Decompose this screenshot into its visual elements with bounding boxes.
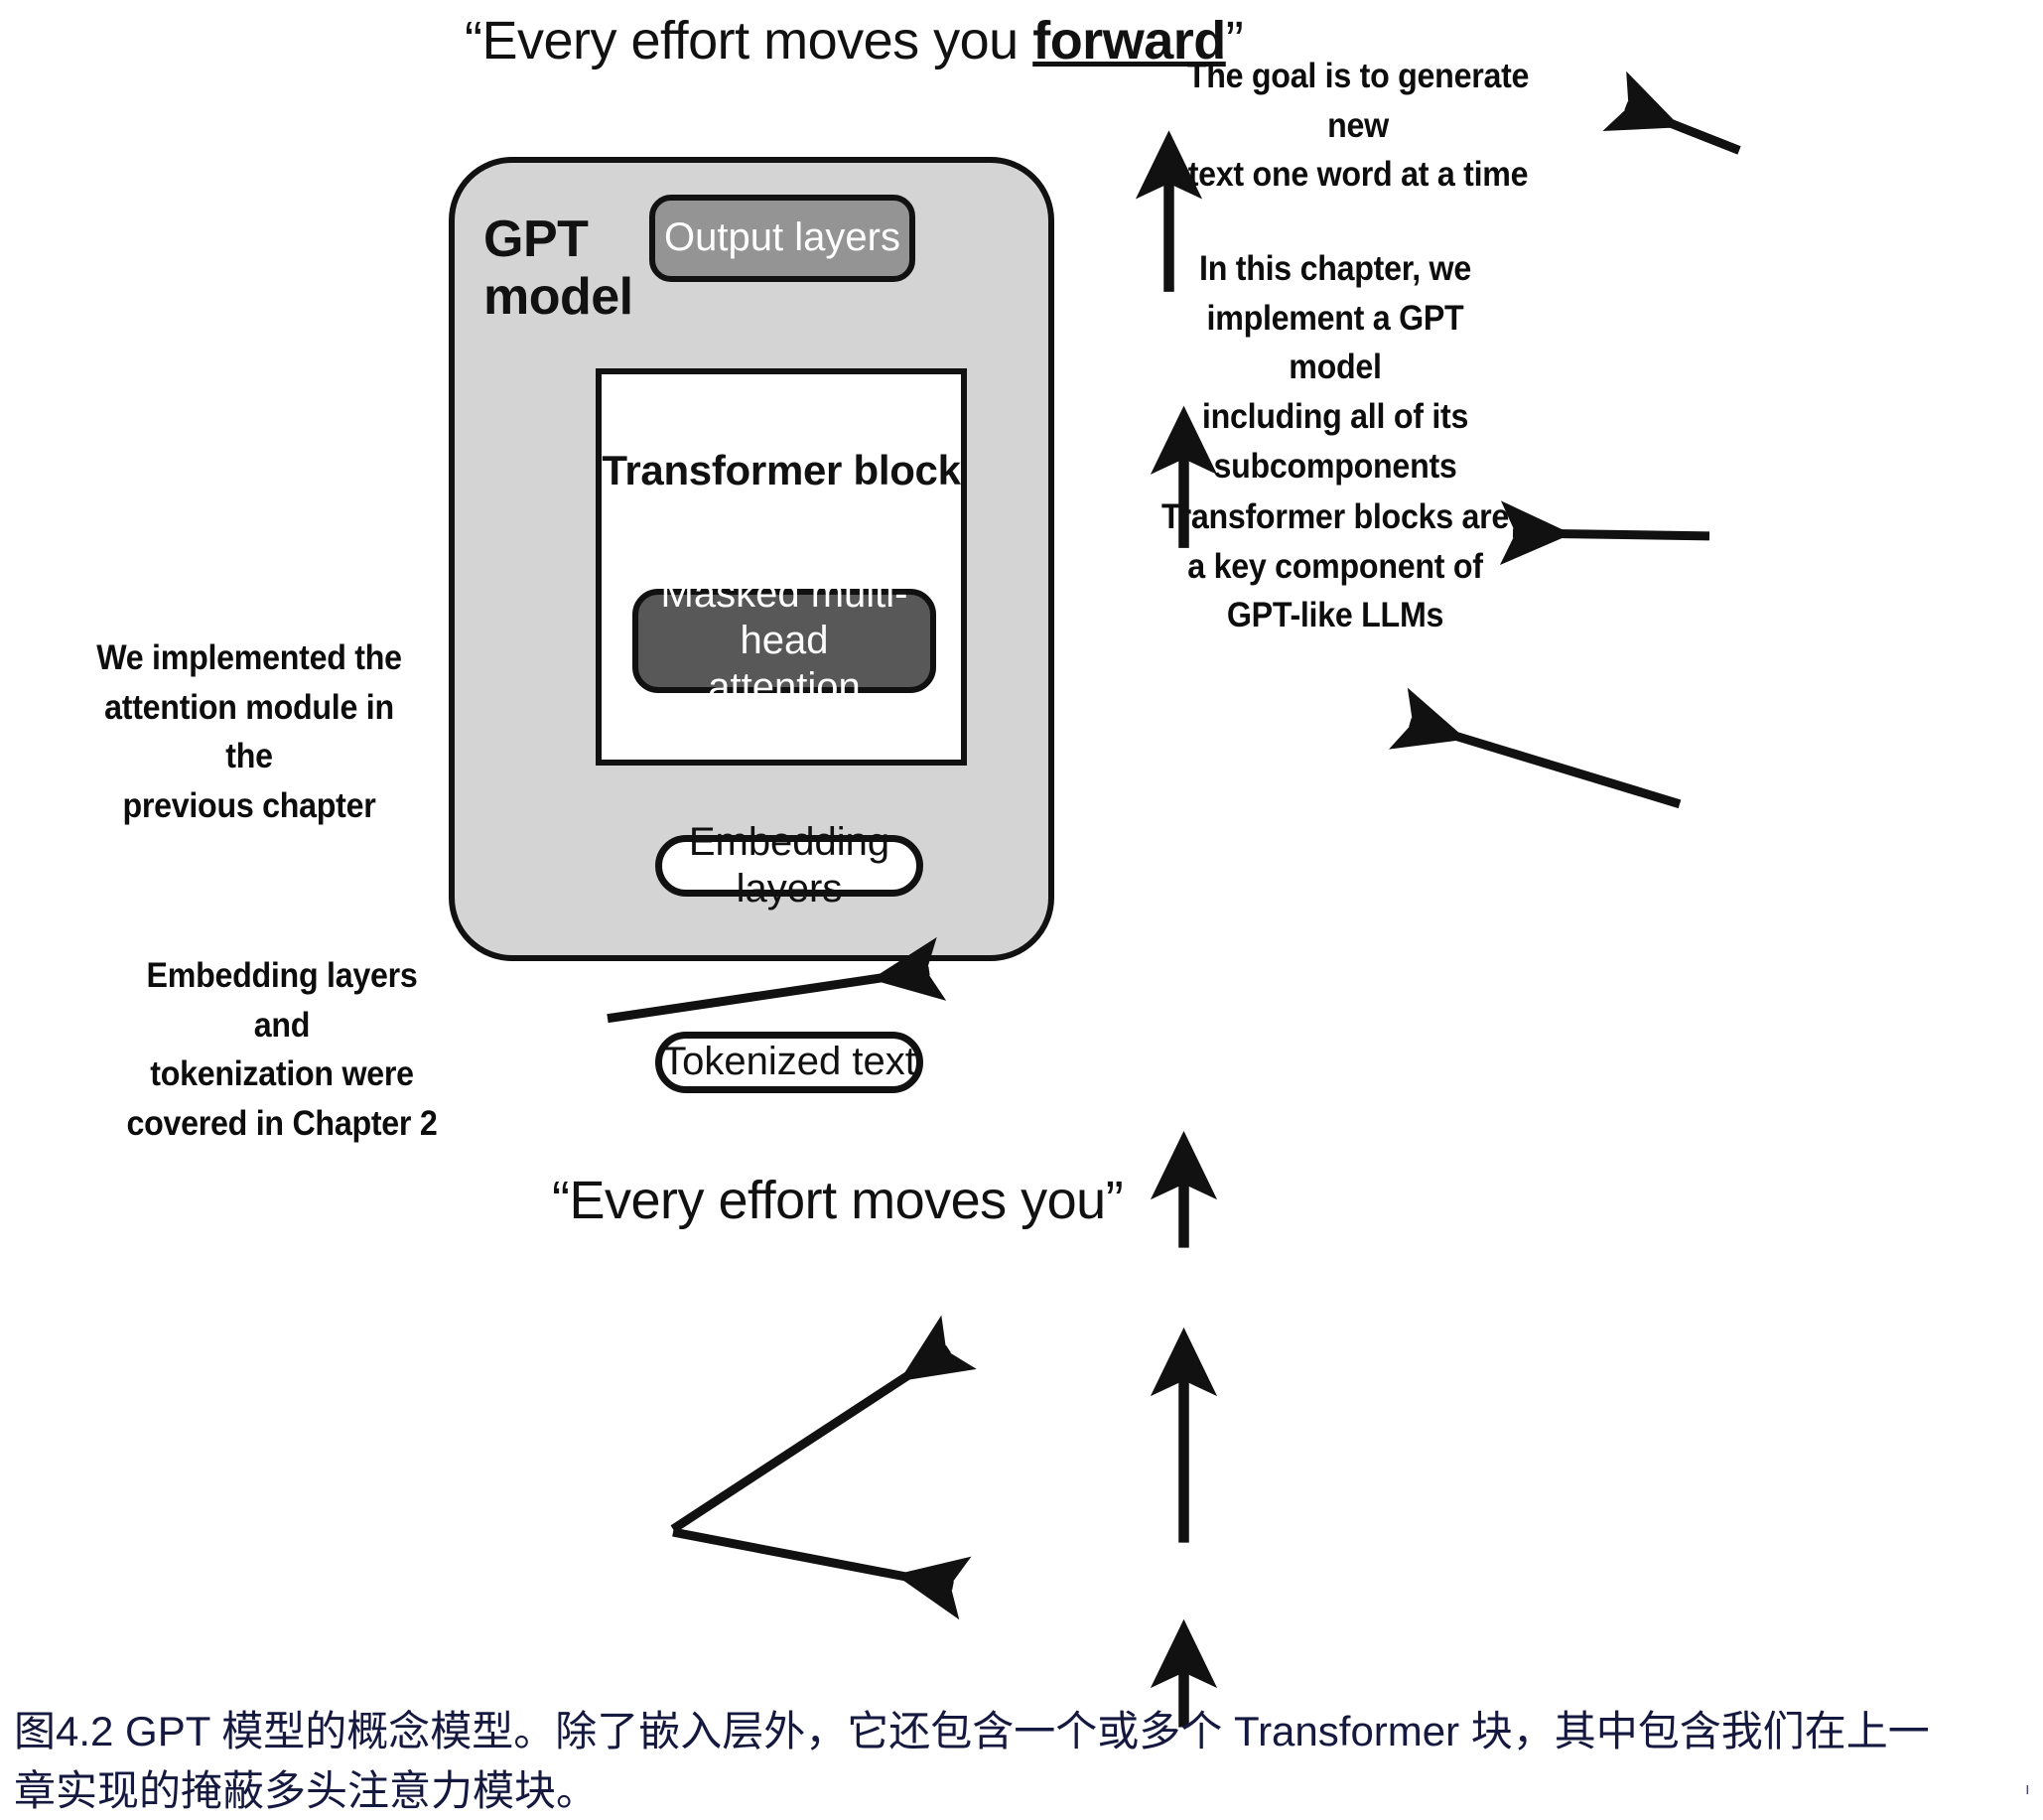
chapter-annotation-line-2: including all of its [1158, 392, 1514, 442]
goal-annotation-line-0: The goal is to generate new [1175, 52, 1541, 150]
goal-annotation: The goal is to generate new text one wor… [1175, 52, 1541, 200]
leader-goal-annotation [1626, 105, 1739, 150]
figure-caption: 图4.2 GPT 模型的概念模型。除了嵌入层外，它还包含一个或多个 Transf… [14, 1702, 2029, 1820]
transformer-annotation-line-2: GPT-like LLMs [1158, 591, 1511, 640]
transformer-annotation-line-1: a key component of [1158, 542, 1511, 592]
masked-multi-head-attention-node[interactable]: Masked multi-head attention [632, 589, 936, 693]
leader-embedding-annotation [673, 1349, 949, 1529]
leader-chapter-annotation [1513, 533, 1709, 536]
chapter-annotation: In this chapter, we implement a GPT mode… [1158, 244, 1514, 490]
generated-output-prefix: “Every effort moves you [465, 11, 1032, 70]
input-text: “Every effort moves you” [552, 1170, 1123, 1231]
embedding-annotation-line-0: Embedding layers and [125, 951, 439, 1050]
output-layers-label: Output layers [664, 214, 900, 261]
transformer-annotation: Transformer blocks are a key component o… [1158, 492, 1511, 640]
attention-label-line2: attention [708, 664, 860, 711]
attention-label-line1: Masked multi-head [638, 571, 930, 664]
embedding-layers-node[interactable]: Embedding layers [655, 835, 923, 897]
leader-transformer-annotation [1411, 722, 1681, 803]
attention-annotation-line-0: We implemented the [89, 633, 409, 683]
tokenized-text-node[interactable]: Tokenized text [655, 1032, 923, 1093]
attention-annotation-line-1: attention module in the [89, 683, 409, 781]
embedding-annotation: Embedding layers and tokenization were c… [125, 951, 439, 1149]
chapter-annotation-line-0: In this chapter, we [1158, 244, 1514, 294]
leader-tokenization-annotation [673, 1532, 953, 1586]
gpt-model-title-line1: GPT [483, 210, 633, 268]
gpt-model-title: GPT model [483, 210, 633, 326]
figure-caption-line2: 章实现的掩蔽多头注意力模块。 [14, 1761, 2029, 1820]
page-mark: ı [2025, 1779, 2030, 1799]
embedding-layers-label: Embedding layers [662, 819, 916, 912]
output-layers-node[interactable]: Output layers [649, 195, 915, 282]
embedding-annotation-line-2: covered in Chapter 2 [125, 1099, 439, 1149]
chapter-annotation-line-1: implement a GPT model [1158, 294, 1514, 392]
figure-caption-line1: 图4.2 GPT 模型的概念模型。除了嵌入层外，它还包含一个或多个 Transf… [14, 1702, 2029, 1761]
transformer-annotation-line-0: Transformer blocks are [1158, 492, 1511, 542]
generated-output-text: “Every effort moves you forward” [465, 10, 1243, 71]
leader-attention-annotation [608, 971, 929, 1019]
embedding-annotation-line-1: tokenization were [125, 1050, 439, 1099]
attention-annotation: We implemented the attention module in t… [89, 633, 409, 831]
transformer-block-label: Transformer block [596, 447, 967, 494]
chapter-annotation-line-3: subcomponents [1158, 442, 1514, 491]
figure-canvas: “Every effort moves you forward” GPT mod… [0, 0, 2043, 1815]
attention-annotation-line-2: previous chapter [89, 781, 409, 831]
gpt-model-title-line2: model [483, 268, 633, 326]
goal-annotation-line-1: text one word at a time [1175, 150, 1541, 200]
tokenized-text-label: Tokenized text [662, 1039, 916, 1085]
